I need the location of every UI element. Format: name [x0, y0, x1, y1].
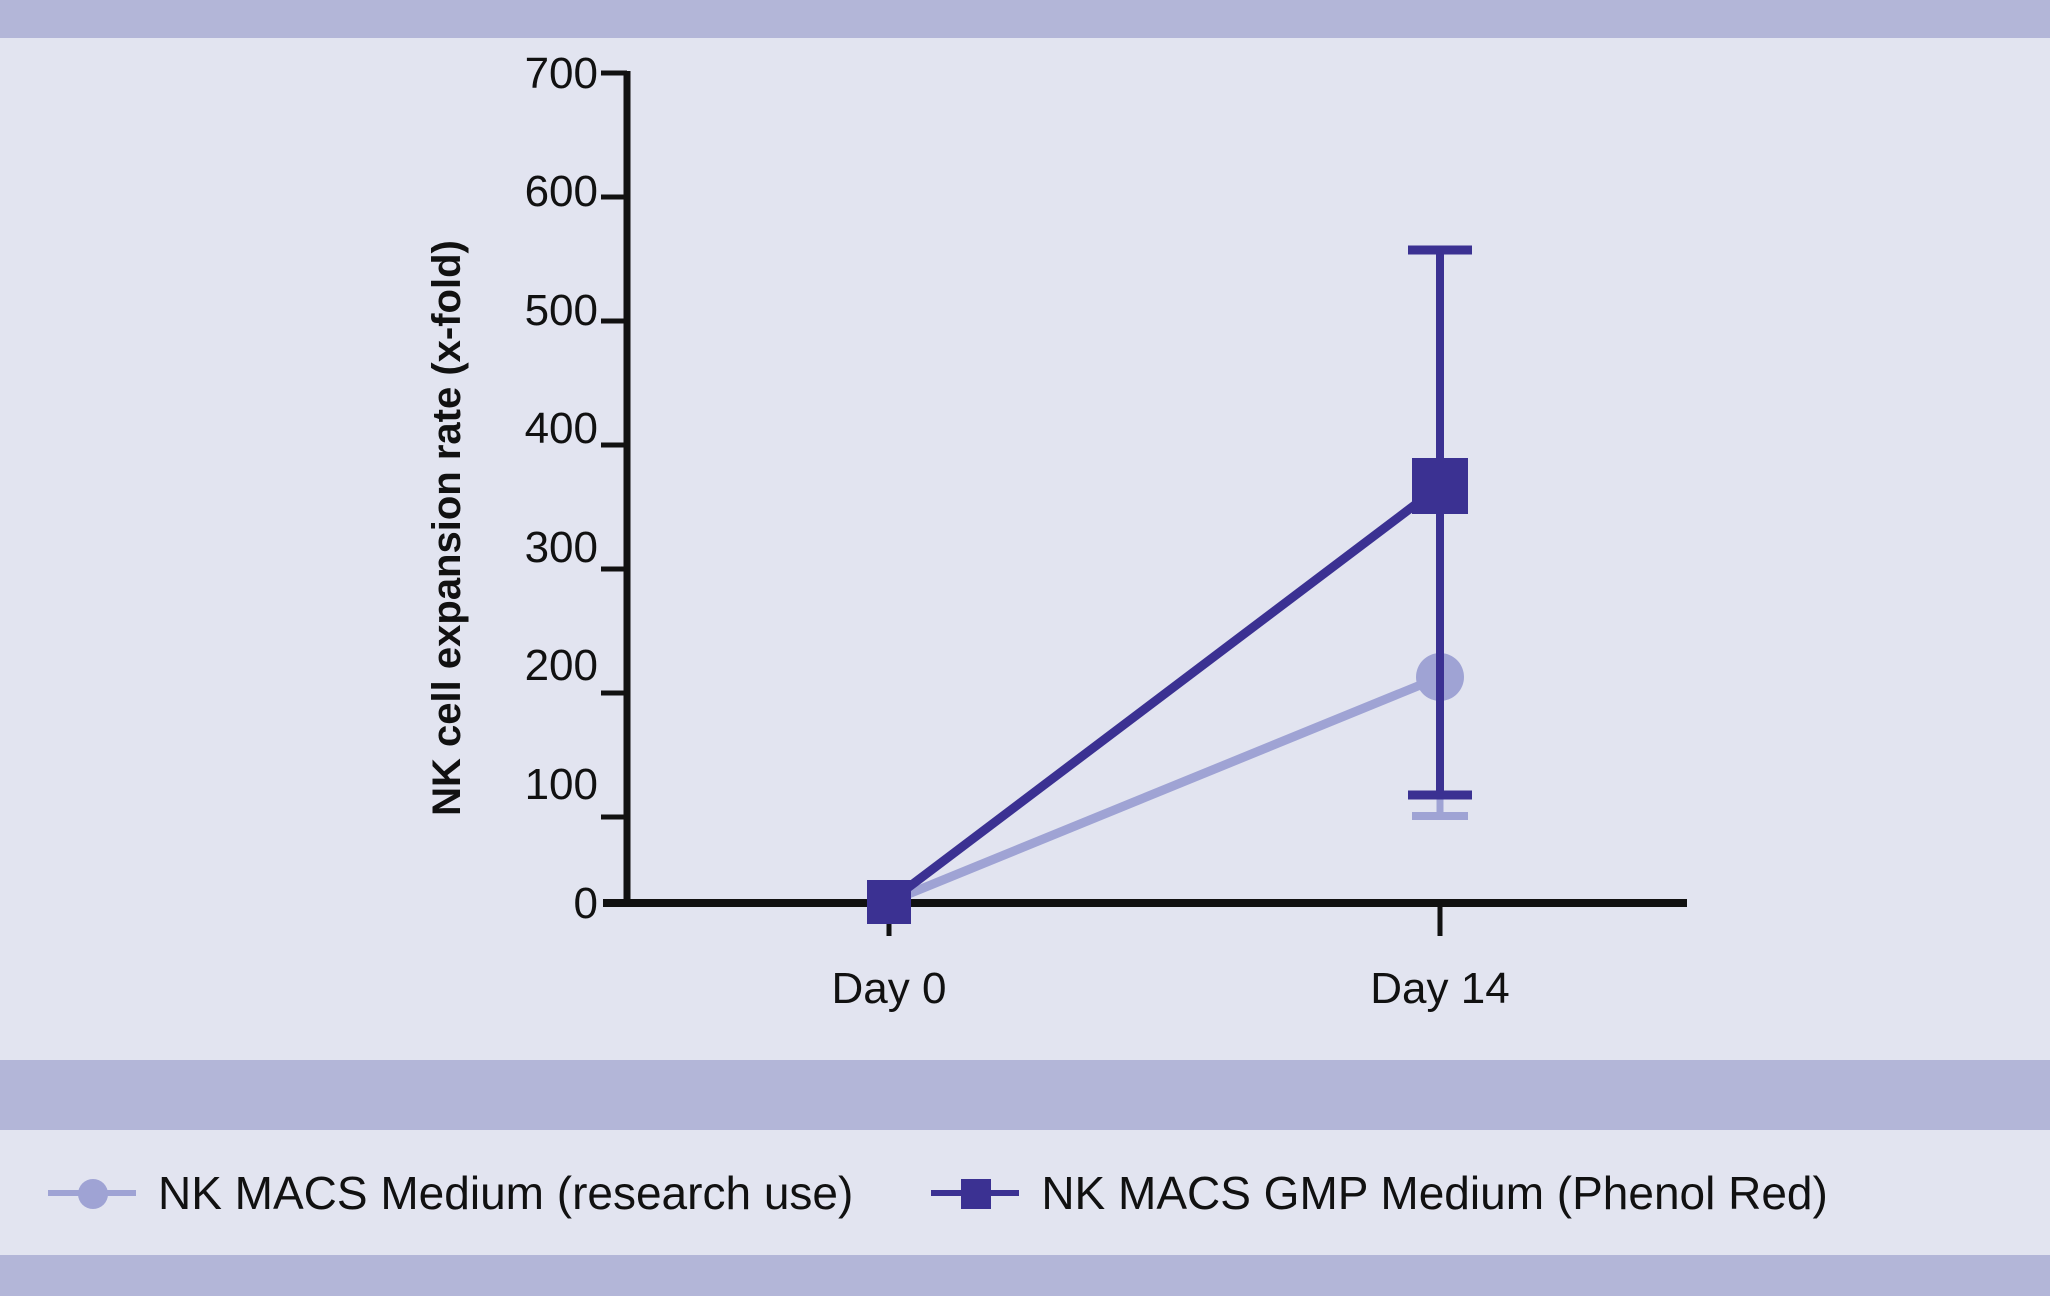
x-tick-label-day-14: Day 14: [1370, 964, 1509, 1013]
legend-swatch-circle: [48, 1176, 136, 1210]
legend-panel: NK MACS Medium (research use) NK MACS GM…: [0, 1130, 2050, 1255]
y-tick-label-500: 500: [525, 286, 598, 335]
bottom-decorative-band: [0, 1255, 2050, 1296]
circle-marker-icon: [78, 1179, 108, 1209]
top-decorative-band: [0, 0, 2050, 38]
chart-legend: NK MACS Medium (research use) NK MACS GM…: [0, 1130, 2050, 1255]
series-dark-line: [889, 486, 1440, 902]
legend-label-1: NK MACS GMP Medium (Phenol Red): [1041, 1166, 1828, 1220]
y-tick-label-600: 600: [525, 167, 598, 216]
series-dark-marker-day-14: [1412, 458, 1468, 514]
legend-swatch-square: [931, 1176, 1019, 1210]
y-axis-ticks: [601, 73, 627, 817]
legend-item-nk-macs-medium[interactable]: NK MACS Medium (research use): [48, 1166, 853, 1220]
x-tick-label-day-0: Day 0: [832, 964, 947, 1013]
series-nk-macs-gmp-medium-phenol-red: [867, 250, 1472, 924]
y-tick-label-400: 400: [525, 404, 598, 453]
legend-item-nk-macs-gmp-medium[interactable]: NK MACS GMP Medium (Phenol Red): [931, 1166, 1828, 1220]
chart-panel: NK cell expansion rate (x-fold) 700 600 …: [0, 38, 2050, 1060]
middle-decorative-band: [0, 1060, 2050, 1130]
series-dark-marker-day-0: [867, 880, 911, 924]
y-tick-label-200: 200: [525, 641, 598, 690]
legend-label-0: NK MACS Medium (research use): [158, 1166, 853, 1220]
square-marker-icon: [961, 1179, 991, 1209]
y-tick-label-100: 100: [525, 760, 598, 809]
y-tick-label-700: 700: [525, 49, 598, 98]
series-light-line: [889, 677, 1440, 902]
y-tick-label-300: 300: [525, 523, 598, 572]
x-axis-ticks: [889, 903, 1440, 936]
expansion-rate-chart: NK cell expansion rate (x-fold) 700 600 …: [0, 38, 2050, 1060]
y-tick-label-0: 0: [574, 879, 598, 928]
y-axis-title: NK cell expansion rate (x-fold): [425, 240, 469, 816]
